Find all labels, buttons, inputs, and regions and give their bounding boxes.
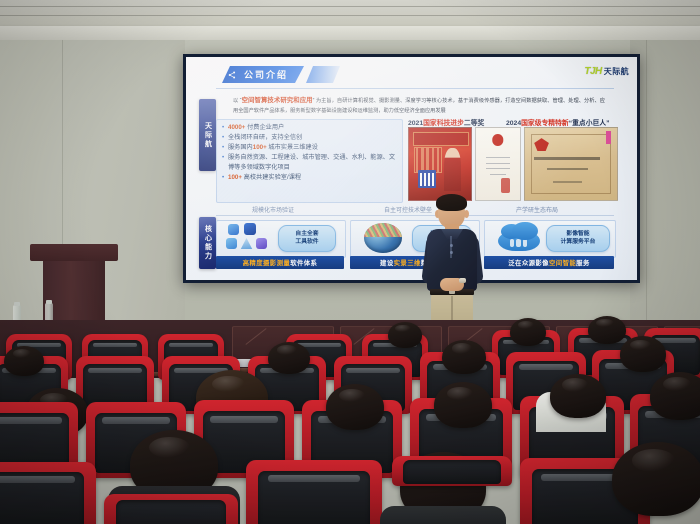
presenter-hair [436, 194, 467, 211]
list-item: •全栈闭环自研，支持全信创 [222, 133, 400, 143]
logo-mark: TJH [584, 66, 601, 77]
mid-label: 规模化市场验证 [252, 205, 294, 214]
app-grid-icon [244, 223, 256, 235]
seat [0, 462, 96, 524]
podium-top [30, 244, 118, 261]
audience-head [434, 382, 492, 428]
seat [392, 456, 512, 486]
certificate-heading-2: 2024国家级专精特新“重点小巨人” [506, 117, 609, 127]
right-wall [630, 40, 700, 325]
specialized-new-plaque [524, 127, 618, 201]
capability-band: 高精度摄影测量软件体系 [216, 256, 344, 269]
audience-head [620, 336, 666, 372]
share-icon [228, 71, 236, 79]
app-grid-icon [256, 238, 267, 249]
list-item: •100+ 高校共建实验室/课程 [222, 173, 400, 183]
title-bar-tail [306, 66, 340, 83]
audience-head [588, 316, 626, 344]
audience-head [650, 372, 700, 420]
seat [246, 460, 382, 524]
app-grid-icon [228, 224, 239, 235]
audience-head [442, 340, 486, 374]
wristwatch [459, 278, 466, 283]
capability-band: 泛在众源影像空间智能服务 [484, 256, 614, 269]
list-item: •服务自然资源、工程建设、城市管理、交通、水利、能源、文博等多领域数字化项目 [222, 153, 400, 173]
side-tab-label: 天际航 [203, 122, 213, 149]
seat [104, 494, 238, 524]
mid-label: 产学研生态布局 [516, 205, 558, 214]
cloud-icon [498, 231, 540, 251]
projection-screen: 公司介绍 TJH 天际航 天际航 核心能力 以 “空间智算技术研究和应用” 为主… [183, 54, 640, 283]
audience-head [268, 342, 310, 374]
side-tab-core-capability: 核心能力 [199, 217, 216, 269]
list-item: •服务国内100+ 城市实景三维建设 [222, 143, 400, 153]
side-tab-company: 天际航 [199, 99, 216, 171]
slide-title: 公司介绍 [244, 68, 288, 81]
capability-pill: 自主全套工具软件 [278, 225, 336, 252]
slide-header: 公司介绍 [222, 66, 340, 83]
intro-highlight: 空间智算技术研究和应用 [242, 97, 313, 104]
list-item: •4000+ 付费企业用户 [222, 123, 400, 133]
award-certificate [475, 127, 521, 201]
audience-head [388, 322, 422, 348]
side-tab-label: 核心能力 [203, 225, 213, 261]
presenter [421, 196, 483, 336]
audience-head [326, 384, 384, 430]
audience-head [510, 318, 546, 346]
capability-pill: 影像智能计算服务平台 [546, 225, 610, 252]
audience-head [550, 374, 606, 418]
audience-head [4, 346, 44, 376]
audience-shoulder [380, 506, 506, 524]
company-logo: TJH 天际航 [584, 66, 629, 77]
bullet-list: •4000+ 付费企业用户 •全栈闭环自研，支持全信创 •服务国内100+ 城市… [222, 123, 400, 183]
certificate-heading-1: 2021国家科技进步二等奖 [408, 117, 484, 127]
header-rule [216, 88, 614, 89]
slide-intro-paragraph: 以 “空间智算技术研究和应用” 为主旨，自研计算机视觉、摄影测量、深度学习等核心… [233, 95, 605, 116]
slide: 公司介绍 TJH 天际航 天际航 核心能力 以 “空间智算技术研究和应用” 为主… [186, 57, 637, 280]
app-grid-icon [226, 238, 237, 249]
audience-head [612, 442, 700, 516]
globe-icon [364, 223, 402, 253]
award-photo [408, 127, 472, 201]
lecture-hall-photo: 公司介绍 TJH 天际航 天际航 核心能力 以 “空间智算技术研究和应用” 为主… [0, 0, 700, 524]
logo-text: 天际航 [604, 66, 629, 77]
